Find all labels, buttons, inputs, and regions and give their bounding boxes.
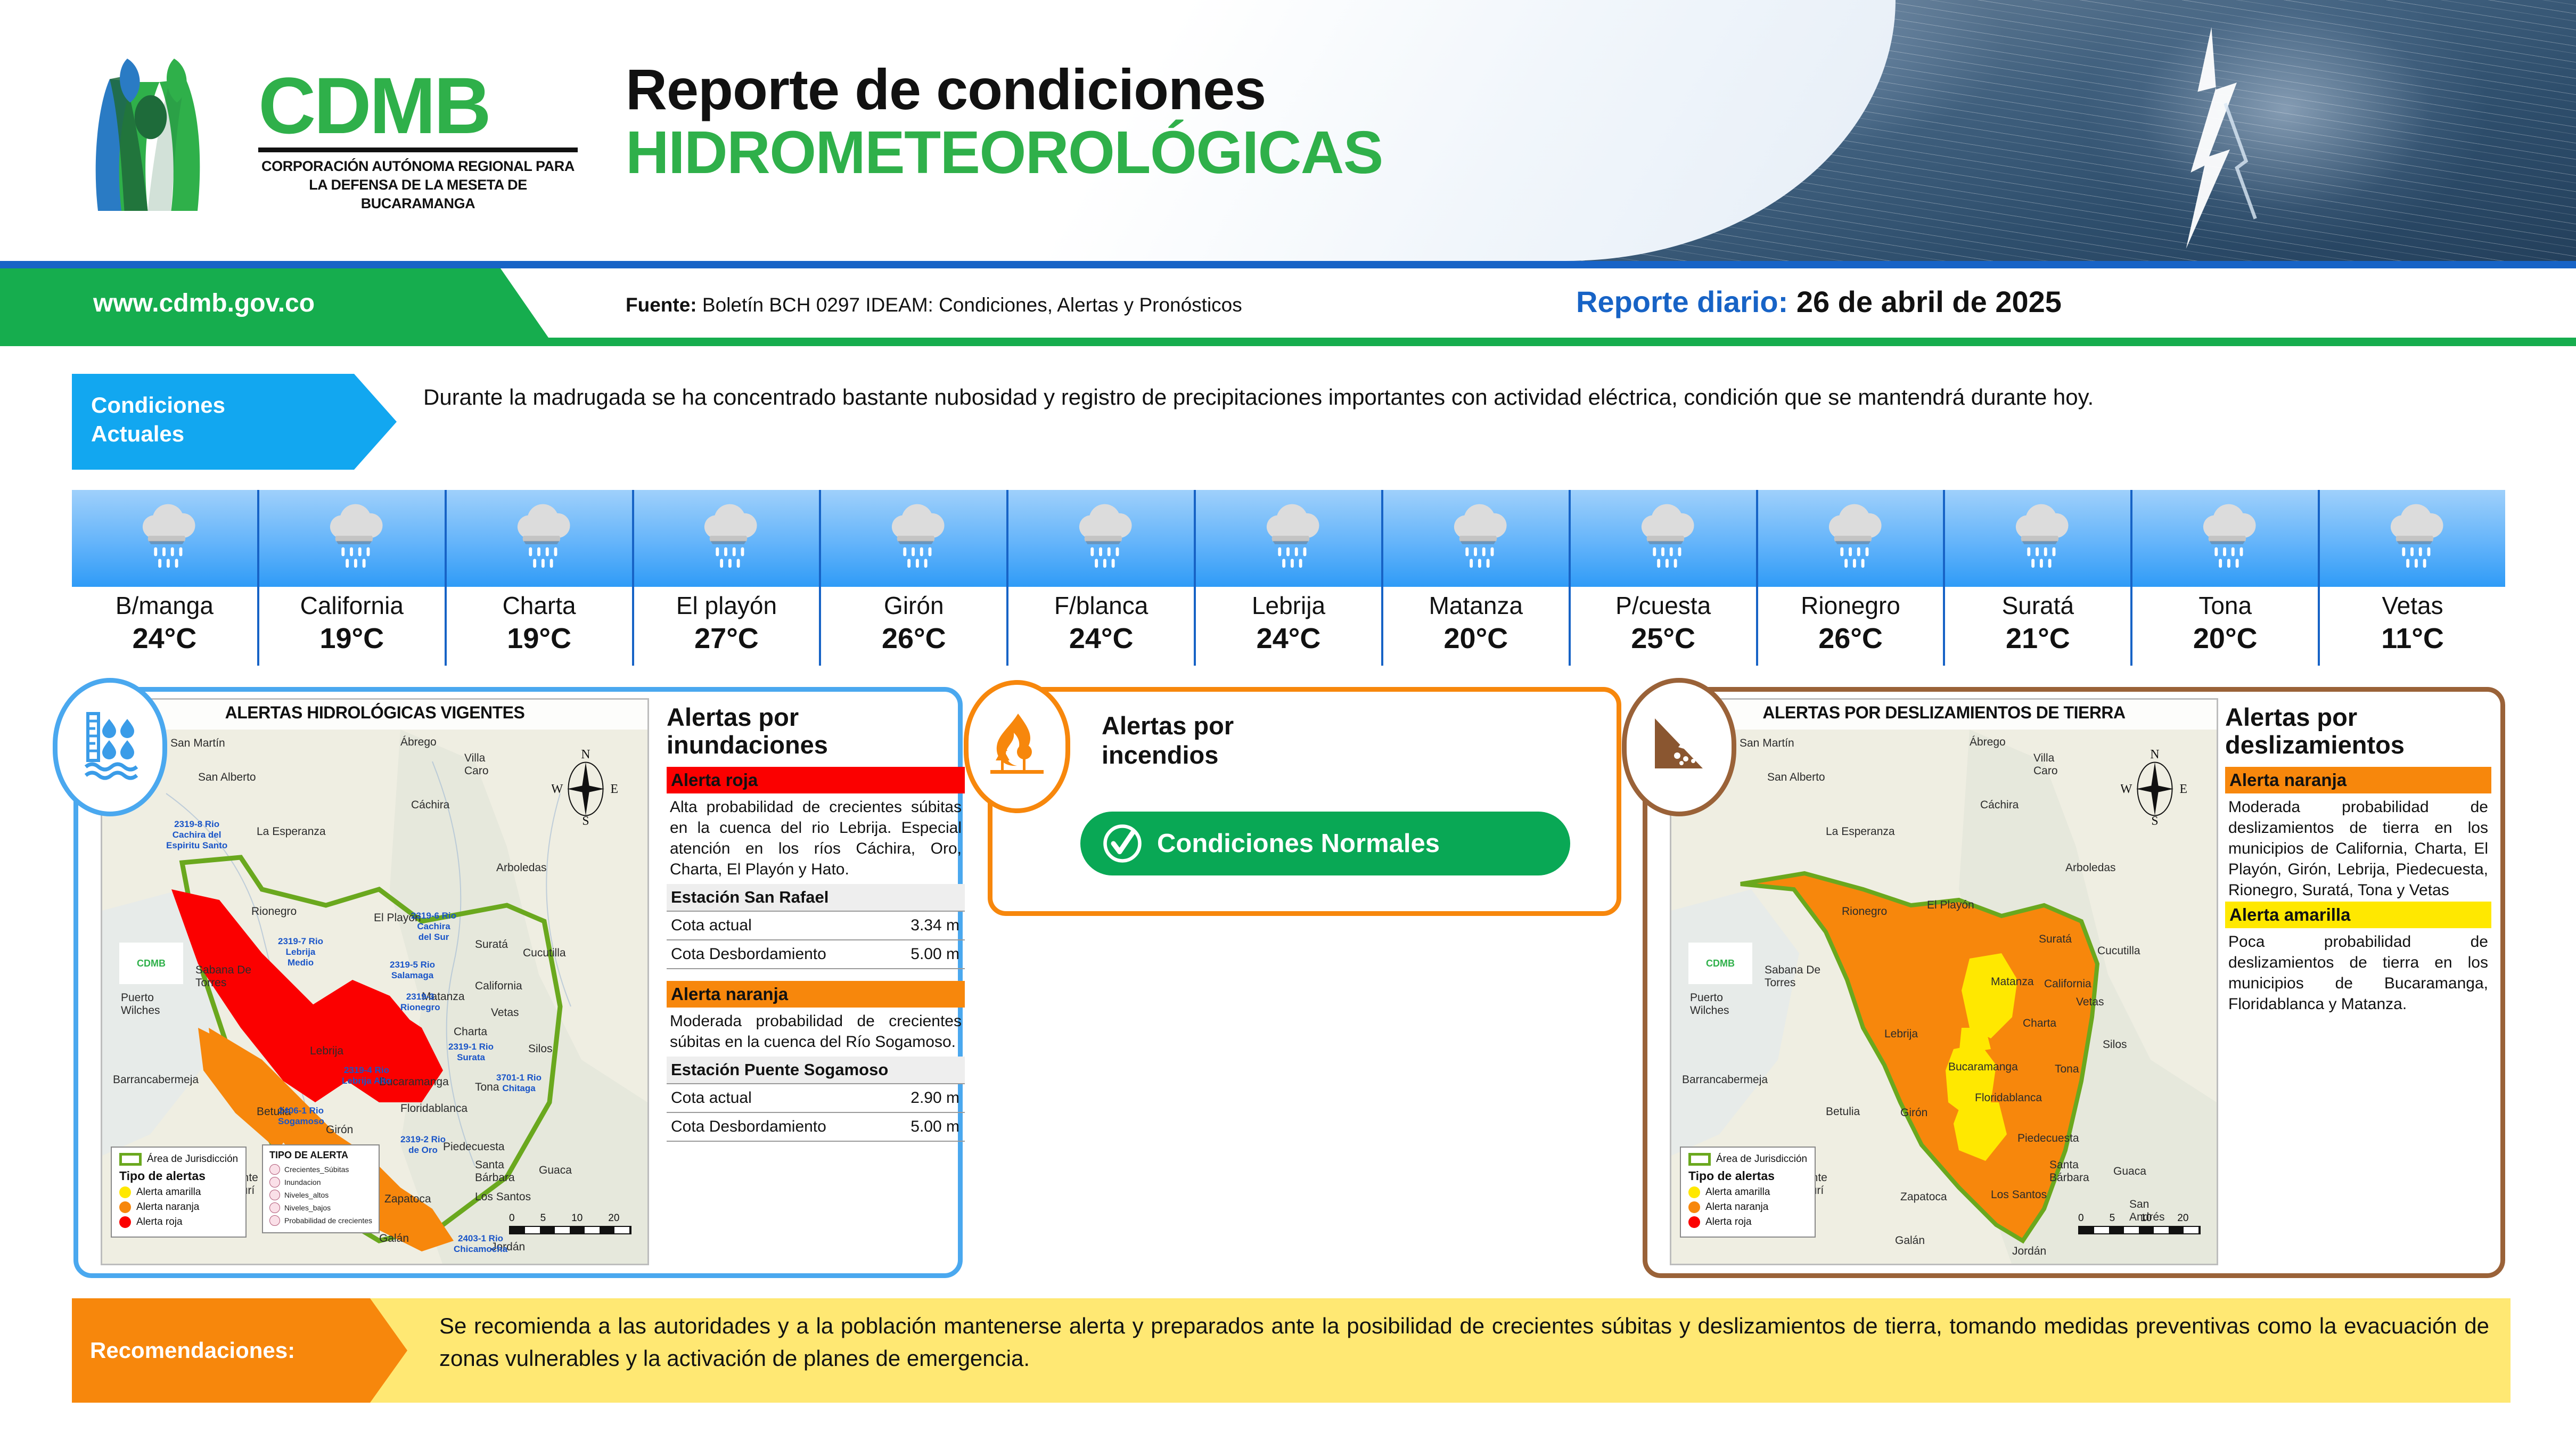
temperature-city: F/blanca [1054, 593, 1148, 618]
rain-cloud-icon [1445, 503, 1507, 574]
row-label: Cota actual [671, 916, 752, 935]
landslide-alert-band-yellow: Alerta amarilla [2225, 902, 2491, 928]
row-label: Cota Desbordamiento [671, 1118, 826, 1136]
svg-text:E: E [2179, 782, 2187, 796]
blue-rule [0, 261, 2576, 268]
rain-cloud-icon [2381, 503, 2444, 574]
flood-alerts-panel: ALERTAS HIDROLÓGICAS VIGENTES [73, 687, 963, 1278]
flood-alert-band-red: Alerta roja [667, 767, 965, 793]
temperature-city: Charta [503, 593, 576, 618]
alert-type-3: Niveles_bajos [284, 1204, 331, 1212]
flood-alerts-text-column: Alertas por inundaciones Alerta roja Alt… [667, 703, 965, 1142]
water-level-gauge-badge [53, 678, 167, 816]
legend-dot-red [1688, 1216, 1700, 1228]
temperature-icon-box [2132, 490, 2318, 587]
temperature-icon-box [1008, 490, 1194, 587]
temperature-cell: Girón26°C [821, 490, 1008, 666]
temperature-icon-box [1945, 490, 2130, 587]
alert-type-legend-title: TIPO DE ALERTA [269, 1150, 372, 1161]
hydro-map-legend: Área de Jurisdicción Tipo de alertas Ale… [111, 1147, 247, 1238]
source-label: Fuente: [626, 294, 697, 316]
landslide-alert-band-orange: Alerta naranja [2225, 767, 2491, 793]
rain-cloud-icon [695, 503, 758, 574]
current-conditions-tag-line2: Actuales [91, 420, 397, 448]
scale-bar [509, 1226, 631, 1234]
fire-forest-badge [964, 680, 1070, 813]
title-line-2: HIDROMETEOROLÓGICAS [626, 120, 1383, 185]
flood-title-line2: inundaciones [667, 731, 965, 759]
svg-text:E: E [610, 782, 618, 796]
current-conditions-tag: Condiciones Actuales [72, 374, 397, 470]
temperature-value: 19°C [319, 624, 384, 653]
temperature-value: 11°C [2381, 624, 2444, 653]
logo-subtitle: CORPORACIÓN AUTÓNOMA REGIONAL PARA LA DE… [258, 157, 578, 213]
fire-alerts-panel: Alertas por incendios Condiciones Normal… [988, 687, 1621, 916]
rain-cloud-icon [1257, 503, 1320, 574]
fire-panel-title: Alertas por incendios [1102, 711, 1234, 770]
temperature-value: 19°C [507, 624, 571, 653]
svg-text:W: W [2121, 782, 2132, 796]
svg-text:N: N [581, 748, 590, 762]
scale-tick-3: 20 [2177, 1213, 2188, 1224]
alert-type-1: Inundacion [284, 1178, 321, 1186]
scale-bar [2078, 1226, 2201, 1234]
probabilidad-crecientes-icon [269, 1215, 280, 1226]
hydrological-map[interactable]: ALERTAS HIDROLÓGICAS VIGENTES [101, 698, 649, 1265]
temperature-icon-box [2320, 490, 2505, 587]
flood-station-0-row-0: Cota actual 3.34 m [667, 912, 965, 940]
svg-text:S: S [582, 814, 589, 828]
inundacion-icon [269, 1177, 280, 1188]
svg-text:W: W [552, 782, 563, 796]
map-cdmb-watermark: CDMB [119, 943, 183, 984]
temperature-cell: Matanza20°C [1383, 490, 1571, 666]
landslide-alert-body-orange: Moderada probabilidad de deslizamientos … [2225, 793, 2491, 902]
jurisdiction-label: Área de Jurisdicción [1716, 1153, 1807, 1165]
compass-rose-icon: N S W E [2121, 748, 2189, 828]
flood-station-1-row-1: Cota Desbordamiento 5.00 m [667, 1113, 965, 1142]
map-cdmb-watermark: CDMB [1688, 943, 1752, 984]
landslide-map-canvas: N S W E CDMB San Martín San Alberto Ábre… [1671, 730, 2217, 1265]
temperature-city: California [300, 593, 404, 618]
title-line-1: Reporte de condiciones [626, 59, 1383, 120]
flood-alert-band-orange: Alerta naranja [667, 981, 965, 1008]
temperature-value: 26°C [882, 624, 946, 653]
flood-title-line1: Alertas por [667, 703, 965, 731]
svg-text:N: N [2150, 748, 2159, 762]
temperature-cell: Suratá21°C [1945, 490, 2132, 666]
flood-alert-body-orange: Moderada probabilidad de crecientes súbi… [667, 1008, 965, 1053]
current-conditions-text: Durante la madrugada se ha concentrado b… [423, 381, 2500, 413]
alert-type-2: Niveles_altos [284, 1191, 329, 1199]
temperature-cell: F/blanca24°C [1008, 490, 1196, 666]
temperature-icon-box [1196, 490, 1381, 587]
temperature-icon-box [259, 490, 445, 587]
temperature-cell: Vetas11°C [2320, 490, 2505, 666]
landslide-map-title: ALERTAS POR DESLIZAMIENTOS DE TIERRA [1671, 703, 2217, 723]
landslide-alerts-text-column: Alertas por deslizamientos Alerta naranj… [2225, 703, 2491, 1016]
temperature-value: 24°C [1069, 624, 1134, 653]
landslide-badge [1622, 678, 1736, 816]
alert-type-4: Probabilidad de crecientes [284, 1216, 372, 1225]
rain-cloud-icon [508, 503, 571, 574]
alert-type-0: Crecientes_Súbitas [284, 1165, 349, 1174]
rain-cloud-icon [2194, 503, 2257, 574]
temperature-city: Rionegro [1801, 593, 1900, 618]
legend-dot-orange [119, 1201, 131, 1213]
temperature-cell: Tona20°C [2132, 490, 2320, 666]
landslide-icon [1647, 710, 1711, 784]
rain-cloud-icon [1070, 503, 1133, 574]
legend-title: Tipo de alertas [119, 1169, 238, 1183]
jurisdiction-swatch [1688, 1153, 1711, 1166]
rain-cloud-icon [1819, 503, 1882, 574]
landslide-title-line2: deslizamientos [2225, 731, 2491, 759]
current-conditions-row: Condiciones Actuales Durante la madrugad… [72, 374, 2505, 470]
temperature-value: 26°C [1818, 624, 1883, 653]
flood-station-1: Estación Puente Sogamoso [667, 1057, 965, 1084]
hydro-map-scale: 0 5 10 20 [509, 1213, 631, 1234]
landslide-title-line1: Alertas por [2225, 703, 2491, 731]
temperature-city: El playón [676, 593, 777, 618]
legend-label-red: Alerta roja [1705, 1216, 1752, 1228]
temperature-value: 27°C [694, 624, 759, 653]
jurisdiction-label: Área de Jurisdicción [147, 1153, 238, 1165]
legend-dot-red [119, 1216, 131, 1228]
rain-cloud-icon [882, 503, 945, 574]
rain-cloud-icon [2006, 503, 2069, 574]
source-text: Fuente: Boletín BCH 0297 IDEAM: Condicio… [626, 294, 1242, 316]
temperature-city: B/manga [116, 593, 214, 618]
green-rule [0, 338, 2576, 346]
niveles-altos-icon [269, 1190, 280, 1200]
legend-dot-yellow [119, 1186, 131, 1198]
scale-tick-2: 10 [571, 1213, 583, 1224]
temperature-cell: El playón27°C [634, 490, 822, 666]
flood-station-1-row-0: Cota actual 2.90 m [667, 1084, 965, 1113]
fire-status-label: Condiciones Normales [1157, 829, 1440, 858]
scale-tick-0: 0 [2078, 1213, 2084, 1224]
temperature-icon-box [821, 490, 1006, 587]
legend-label-red: Alerta roja [136, 1216, 183, 1228]
temperature-cell: B/manga24°C [72, 490, 259, 666]
legend-label-yellow: Alerta amarilla [136, 1186, 201, 1198]
landslide-map[interactable]: ALERTAS POR DESLIZAMIENTOS DE TIERRA [1670, 698, 2218, 1265]
jurisdiction-swatch [119, 1153, 142, 1166]
check-circle-icon [1102, 823, 1143, 864]
legend-title: Tipo de alertas [1688, 1169, 1807, 1183]
fire-title-line1: Alertas por [1102, 711, 1234, 740]
landslide-map-legend: Área de Jurisdicción Tipo de alertas Ale… [1680, 1147, 1816, 1238]
hydro-map-alert-type-legend: TIPO DE ALERTA Crecientes_Súbitas Inunda… [262, 1144, 380, 1233]
rain-cloud-icon [133, 503, 196, 574]
row-value: 2.90 m [910, 1089, 959, 1107]
temperature-icon-box [1571, 490, 1756, 587]
temperature-city: P/cuesta [1615, 593, 1711, 618]
legend-label-orange: Alerta naranja [1705, 1201, 1768, 1213]
temperature-icon-box [72, 490, 257, 587]
scale-tick-2: 10 [2140, 1213, 2152, 1224]
fire-forest-icon [986, 709, 1048, 784]
fire-status-badge: Condiciones Normales [1080, 812, 1570, 875]
row-value: 3.34 m [910, 916, 959, 935]
current-conditions-tag-line1: Condiciones [91, 391, 397, 420]
temperature-city: Vetas [2382, 593, 2443, 618]
rain-cloud-icon [1632, 503, 1695, 574]
legend-label-orange: Alerta naranja [136, 1201, 199, 1213]
flood-station-0: Estación San Rafael [667, 884, 965, 912]
landslide-alert-body-yellow: Poca probabilidad de deslizamientos de t… [2225, 928, 2491, 1016]
report-date: 26 de abril de 2025 [1796, 285, 2062, 318]
niveles-bajos-icon [269, 1202, 280, 1213]
temperature-icon-box [1383, 490, 1569, 587]
report-label: Reporte diario: [1576, 285, 1788, 318]
temperature-cell: Rionegro26°C [1758, 490, 1946, 666]
website-url[interactable]: www.cdmb.gov.co [93, 289, 315, 318]
landslide-panel-title: Alertas por deslizamientos [2225, 703, 2491, 758]
compass-rose-icon: N S W E [552, 748, 620, 828]
recommendations-tag: Recomendaciones: [72, 1298, 407, 1403]
temperature-value: 25°C [1631, 624, 1695, 653]
temperature-value: 24°C [133, 624, 197, 653]
temperature-city: Matanza [1429, 593, 1523, 618]
rain-cloud-icon [321, 503, 383, 574]
temperature-icon-box [447, 490, 632, 587]
temperature-value: 21°C [2006, 624, 2070, 653]
page-title: Reporte de condiciones HIDROMETEOROLÓGIC… [626, 59, 1383, 184]
temperature-value: 20°C [1444, 624, 1508, 653]
report-date-block: Reporte diario: 26 de abril de 2025 [1576, 284, 2062, 319]
header-banner: CDMB CORPORACIÓN AUTÓNOMA REGIONAL PARA … [0, 0, 2576, 261]
recommendations-row: Recomendaciones: Se recomienda a las aut… [72, 1298, 2511, 1403]
temperature-icon-box [1758, 490, 1943, 587]
cdmb-logo-mark [75, 47, 250, 223]
legend-label-yellow: Alerta amarilla [1705, 1186, 1770, 1198]
temperature-city: Suratá [2002, 593, 2074, 618]
source-value: Boletín BCH 0297 IDEAM: Condiciones, Ale… [702, 294, 1242, 316]
temperature-cell: P/cuesta25°C [1571, 490, 1758, 666]
row-value: 5.00 m [910, 1118, 959, 1136]
temperature-city: Lebrija [1252, 593, 1325, 618]
svg-text:S: S [2151, 814, 2158, 828]
scale-tick-1: 5 [540, 1213, 546, 1224]
temperature-cell: Lebrija24°C [1196, 490, 1383, 666]
flood-station-0-row-1: Cota Desbordamiento 5.00 m [667, 940, 965, 969]
scale-tick-0: 0 [509, 1213, 515, 1224]
temperature-value: 20°C [2193, 624, 2258, 653]
fire-title-line2: incendios [1102, 740, 1234, 769]
temperature-strip: B/manga24°CCalifornia19°CCharta19°CEl pl… [72, 490, 2505, 666]
crecientes-subitas-icon [269, 1164, 280, 1175]
flood-alert-body-red: Alta probabilidad de crecientes súbitas … [667, 793, 965, 881]
legend-dot-yellow [1688, 1186, 1700, 1198]
alert-panels-row: ALERTAS HIDROLÓGICAS VIGENTES [0, 687, 2576, 1283]
hydro-map-canvas: N S W E CDMB San Martín San Alberto Ábre… [102, 730, 647, 1265]
landslide-map-scale: 0 5 10 20 [2078, 1213, 2201, 1234]
logo-acronym: CDMB [258, 68, 599, 143]
row-value: 5.00 m [910, 945, 959, 963]
landslide-alerts-panel: ALERTAS POR DESLIZAMIENTOS DE TIERRA [1643, 687, 2505, 1278]
temperature-icon-box [634, 490, 819, 587]
temperature-cell: California19°C [259, 490, 447, 666]
temperature-city: Girón [884, 593, 944, 618]
recommendations-text: Se recomienda a las autoridades y a la p… [439, 1310, 2489, 1375]
scale-tick-3: 20 [608, 1213, 619, 1224]
row-label: Cota Desbordamiento [671, 945, 826, 963]
row-label: Cota actual [671, 1089, 752, 1107]
scale-tick-1: 5 [2110, 1213, 2115, 1224]
info-bar: www.cdmb.gov.co Fuente: Boletín BCH 0297… [0, 261, 2576, 346]
temperature-cell: Charta19°C [447, 490, 634, 666]
temperature-city: Tona [2198, 593, 2252, 618]
hydro-map-title: ALERTAS HIDROLÓGICAS VIGENTES [102, 703, 647, 723]
legend-dot-orange [1688, 1201, 1700, 1213]
water-level-gauge-icon [78, 707, 142, 787]
temperature-value: 24°C [1257, 624, 1321, 653]
flood-panel-title: Alertas por inundaciones [667, 703, 965, 758]
cdmb-logo: CDMB CORPORACIÓN AUTÓNOMA REGIONAL PARA … [69, 42, 607, 233]
